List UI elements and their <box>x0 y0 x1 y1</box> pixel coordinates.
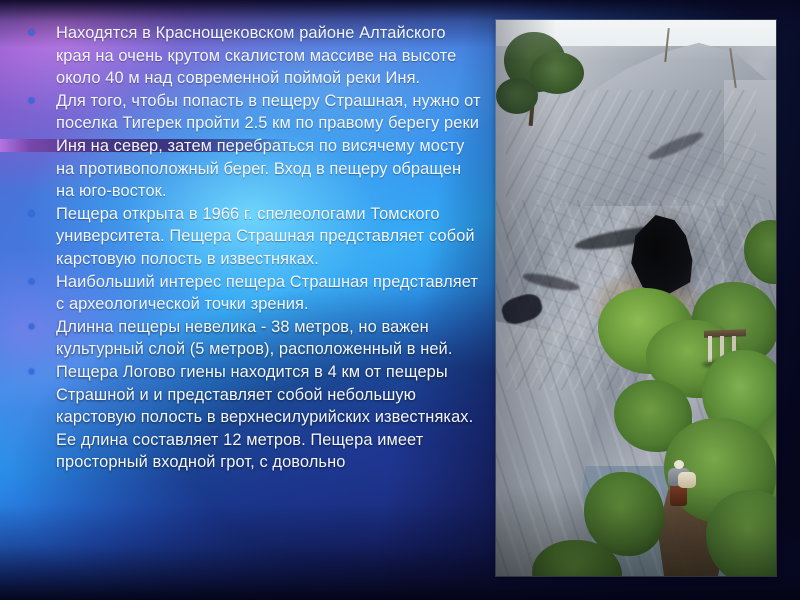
list-item-text: Длинна пещеры невелика - 38 метров, но в… <box>56 318 452 359</box>
list-item: Для того, чтобы попасть в пещеру Страшна… <box>22 90 484 203</box>
bullet-dot-icon <box>29 279 34 284</box>
bullet-dot-icon <box>29 30 34 35</box>
bullet-dot-icon <box>29 98 34 103</box>
list-item-text: Пещера Логово гиены находится в 4 км от … <box>56 363 473 471</box>
list-item: Наибольший интерес пещера Страшная предс… <box>22 271 484 316</box>
list-item: Длинна пещеры невелика - 38 метров, но в… <box>22 316 484 361</box>
list-item-text: Наибольший интерес пещера Страшная предс… <box>56 273 478 314</box>
list-item-text: Для того, чтобы попасть в пещеру Страшна… <box>56 92 481 200</box>
list-item-text: Находятся в Краснощековском районе Алтай… <box>56 24 456 87</box>
photo-shade-bottom <box>496 486 776 576</box>
list-item: Пещера открыта в 1966 г. спелеологами То… <box>22 203 484 271</box>
bullet-list: Находятся в Краснощековском районе Алтай… <box>22 22 484 474</box>
list-item: Находятся в Краснощековском районе Алтай… <box>22 22 484 90</box>
list-item-text: Пещера открыта в 1966 г. спелеологами То… <box>56 205 475 268</box>
bullet-dot-icon <box>29 324 34 329</box>
list-item: Пещера Логово гиены находится в 4 км от … <box>22 361 484 474</box>
slide-text-column: Находятся в Краснощековском районе Алтай… <box>22 22 484 474</box>
presentation-slide: Находятся в Краснощековском районе Алтай… <box>0 0 800 600</box>
cave-photograph <box>496 20 776 576</box>
photo-hiker-head <box>674 460 684 469</box>
photo-shelter-post <box>708 336 712 362</box>
photo-content <box>496 20 776 576</box>
bullet-dot-icon <box>29 211 34 216</box>
bullet-dot-icon <box>29 369 34 374</box>
